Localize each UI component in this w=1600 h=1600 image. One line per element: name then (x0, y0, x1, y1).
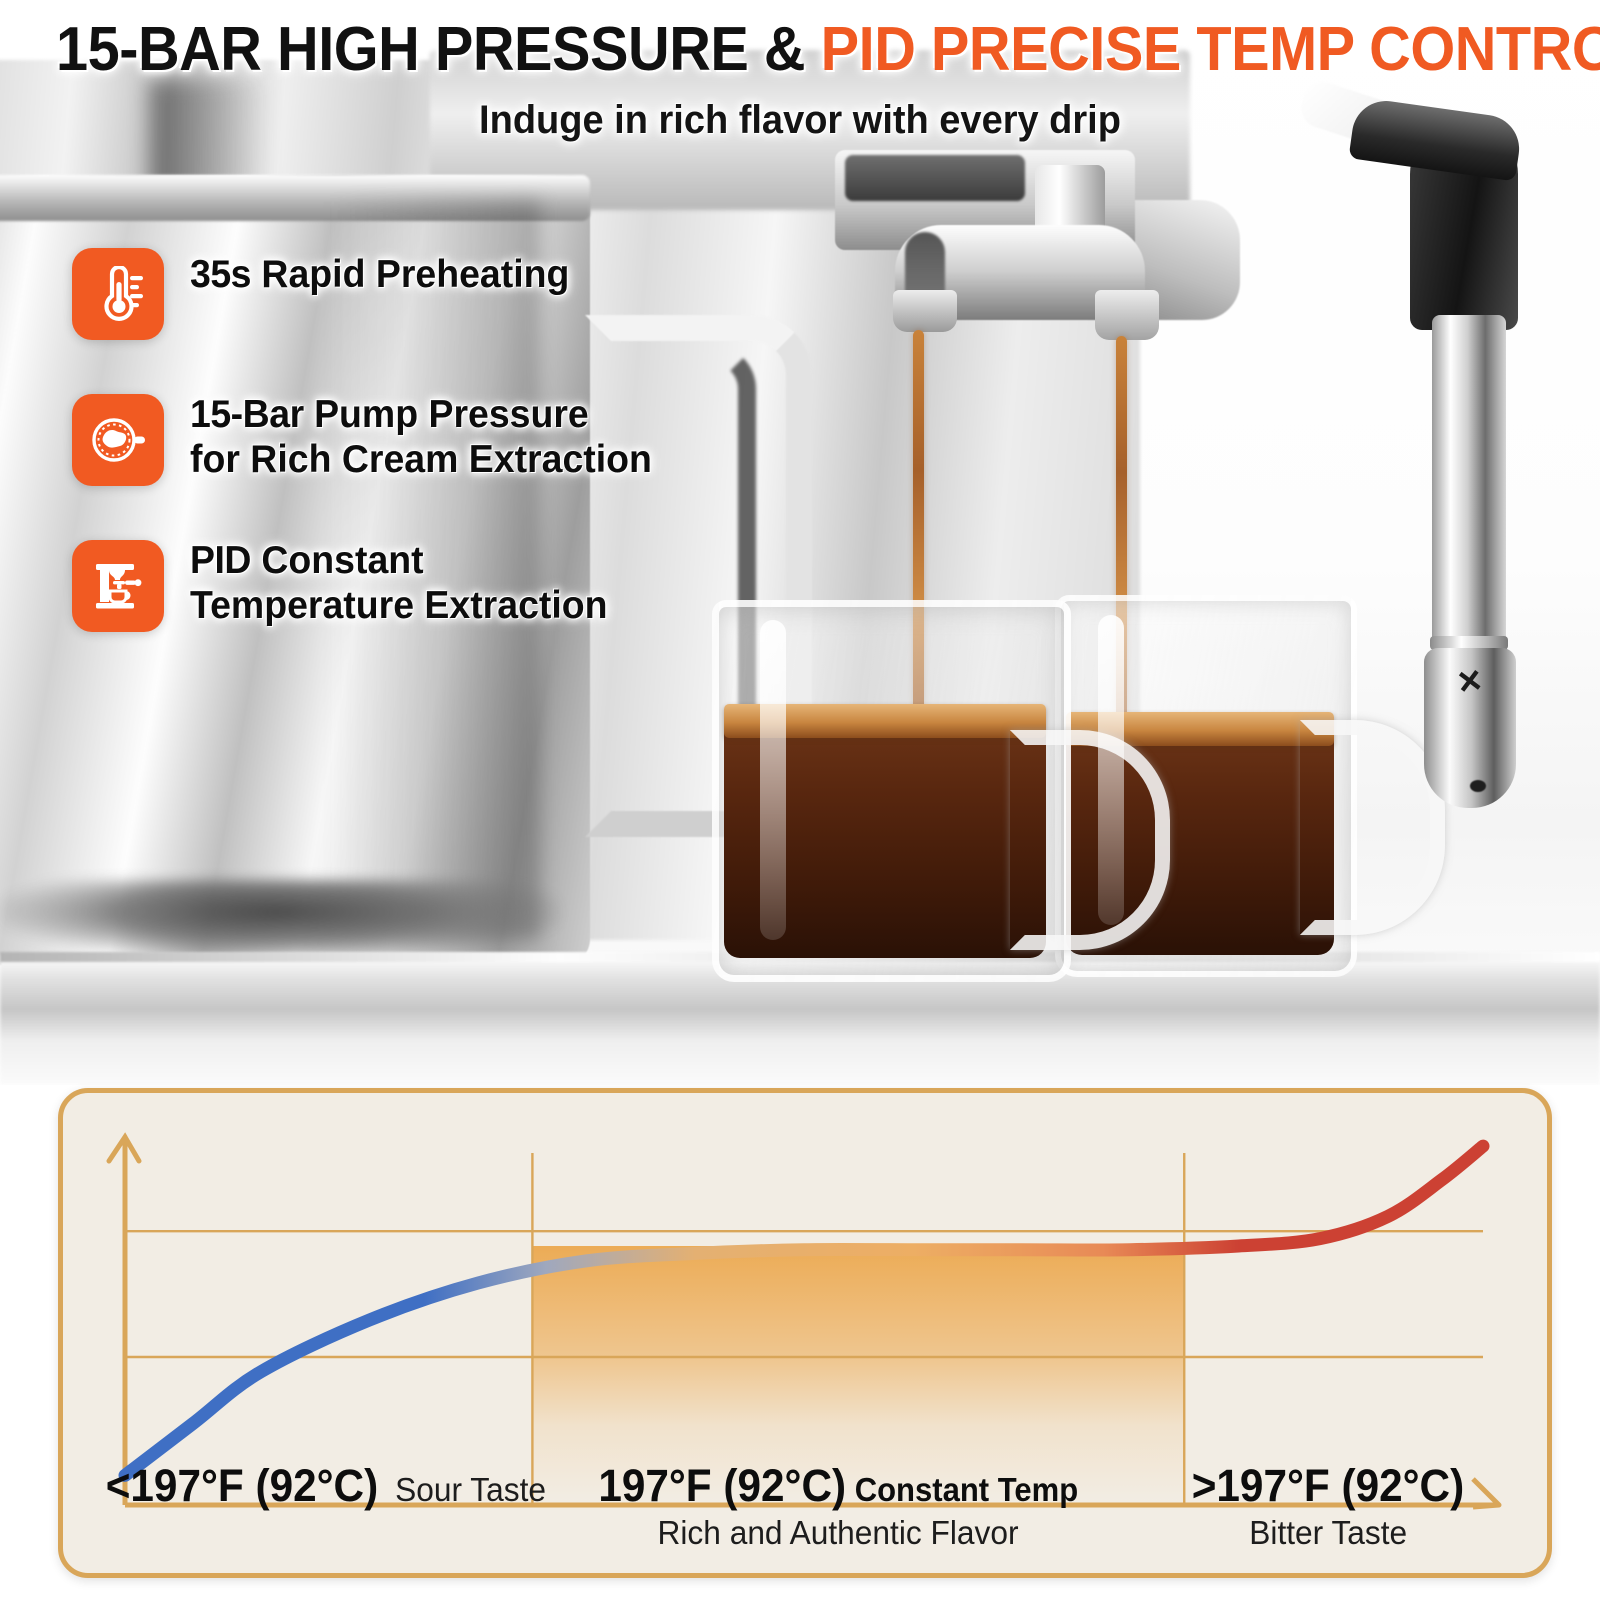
feature-lead-pid: PID (190, 539, 251, 582)
chart-axis-labels: <197°F (92°C) Sour Taste 197°F (92°C) Co… (58, 1460, 1542, 1590)
steam-wand-tube (1432, 315, 1506, 645)
feature-item-pressure: 15-Bar Pump Pressurefor Rich Cream Extra… (72, 388, 692, 486)
headline-part-1: 15-BAR HIGH PRESSURE & (56, 15, 821, 84)
feature-text-pressure: 15-Bar Pump Pressurefor Rich Cream Extra… (190, 388, 652, 482)
feature-text-pid: PID ConstantTemperature Extraction (190, 534, 608, 628)
chart-label-high-temp: >197°F (92°C) Bitter Taste (1118, 1460, 1538, 1552)
milk-pitcher-base (0, 880, 560, 960)
glass-highlight-2 (1098, 615, 1124, 925)
feature-lead-pressure: 15-Bar (190, 393, 304, 436)
chart-label-optimal-temp: 197°F (92°C) Constant Temp Rich and Auth… (528, 1460, 1148, 1552)
feature-lead-preheating: 35s (190, 253, 251, 296)
portafilter-spout-right (1095, 290, 1159, 340)
page-subheadline: Induge in rich flavor with every drip (40, 98, 1560, 143)
feature-line2-pressure: for Rich Cream Extraction (190, 438, 652, 481)
page-headline: 15-BAR HIGH PRESSURE & PID PRECISE TEMP … (56, 14, 1544, 85)
steam-wand-marking: × (1455, 657, 1500, 702)
portafilter-spout-left (893, 290, 957, 332)
chart-label-optimal-number: 197°F (92°C) (598, 1460, 846, 1511)
chart-label-optimal-caption: Rich and Authentic Flavor (657, 1514, 1018, 1552)
coffee-cup-top-icon (72, 394, 164, 486)
chart-label-optimal-value: 197°F (92°C) Constant Temp (598, 1460, 1078, 1512)
steam-wand-nozzle-hole (1470, 780, 1486, 792)
feature-line2-pid: Temperature Extraction (190, 584, 608, 627)
chart-label-low-value: <197°F (92°C) (106, 1460, 378, 1512)
chart-label-optimal-suffix: Constant Temp (846, 1471, 1078, 1508)
feature-rest-preheating: Rapid Preheating (251, 253, 569, 296)
feature-rest-pid: Constant (251, 539, 424, 582)
chart-label-high-value: >197°F (92°C) (1192, 1460, 1464, 1512)
glass-highlight-1 (760, 620, 786, 940)
espresso-machine-icon (72, 540, 164, 632)
product-infographic: × 15-BAR HIGH PRESSURE & PID PRECISE TEM… (0, 0, 1600, 1600)
chart-label-high-caption: Bitter Taste (1249, 1514, 1407, 1552)
group-head-gasket (845, 155, 1025, 201)
feature-item-preheating: 35s Rapid Preheating (72, 248, 692, 340)
chart-label-low-caption: Sour Taste (395, 1471, 546, 1509)
glass-mug-handle-front (1010, 730, 1170, 950)
feature-text-preheating: 35s Rapid Preheating (190, 248, 569, 297)
feature-item-pid: PID ConstantTemperature Extraction (72, 534, 692, 632)
headline-part-2: PID PRECISE TEMP CONTROL (821, 15, 1600, 84)
chart-label-low-temp: <197°F (92°C) Sour Taste (88, 1460, 558, 1512)
feature-rest-pressure: Pump Pressure (304, 393, 589, 436)
feature-list: 35s Rapid Preheating 15-Bar Pump Pressur… (72, 248, 692, 680)
thermometer-icon (72, 248, 164, 340)
